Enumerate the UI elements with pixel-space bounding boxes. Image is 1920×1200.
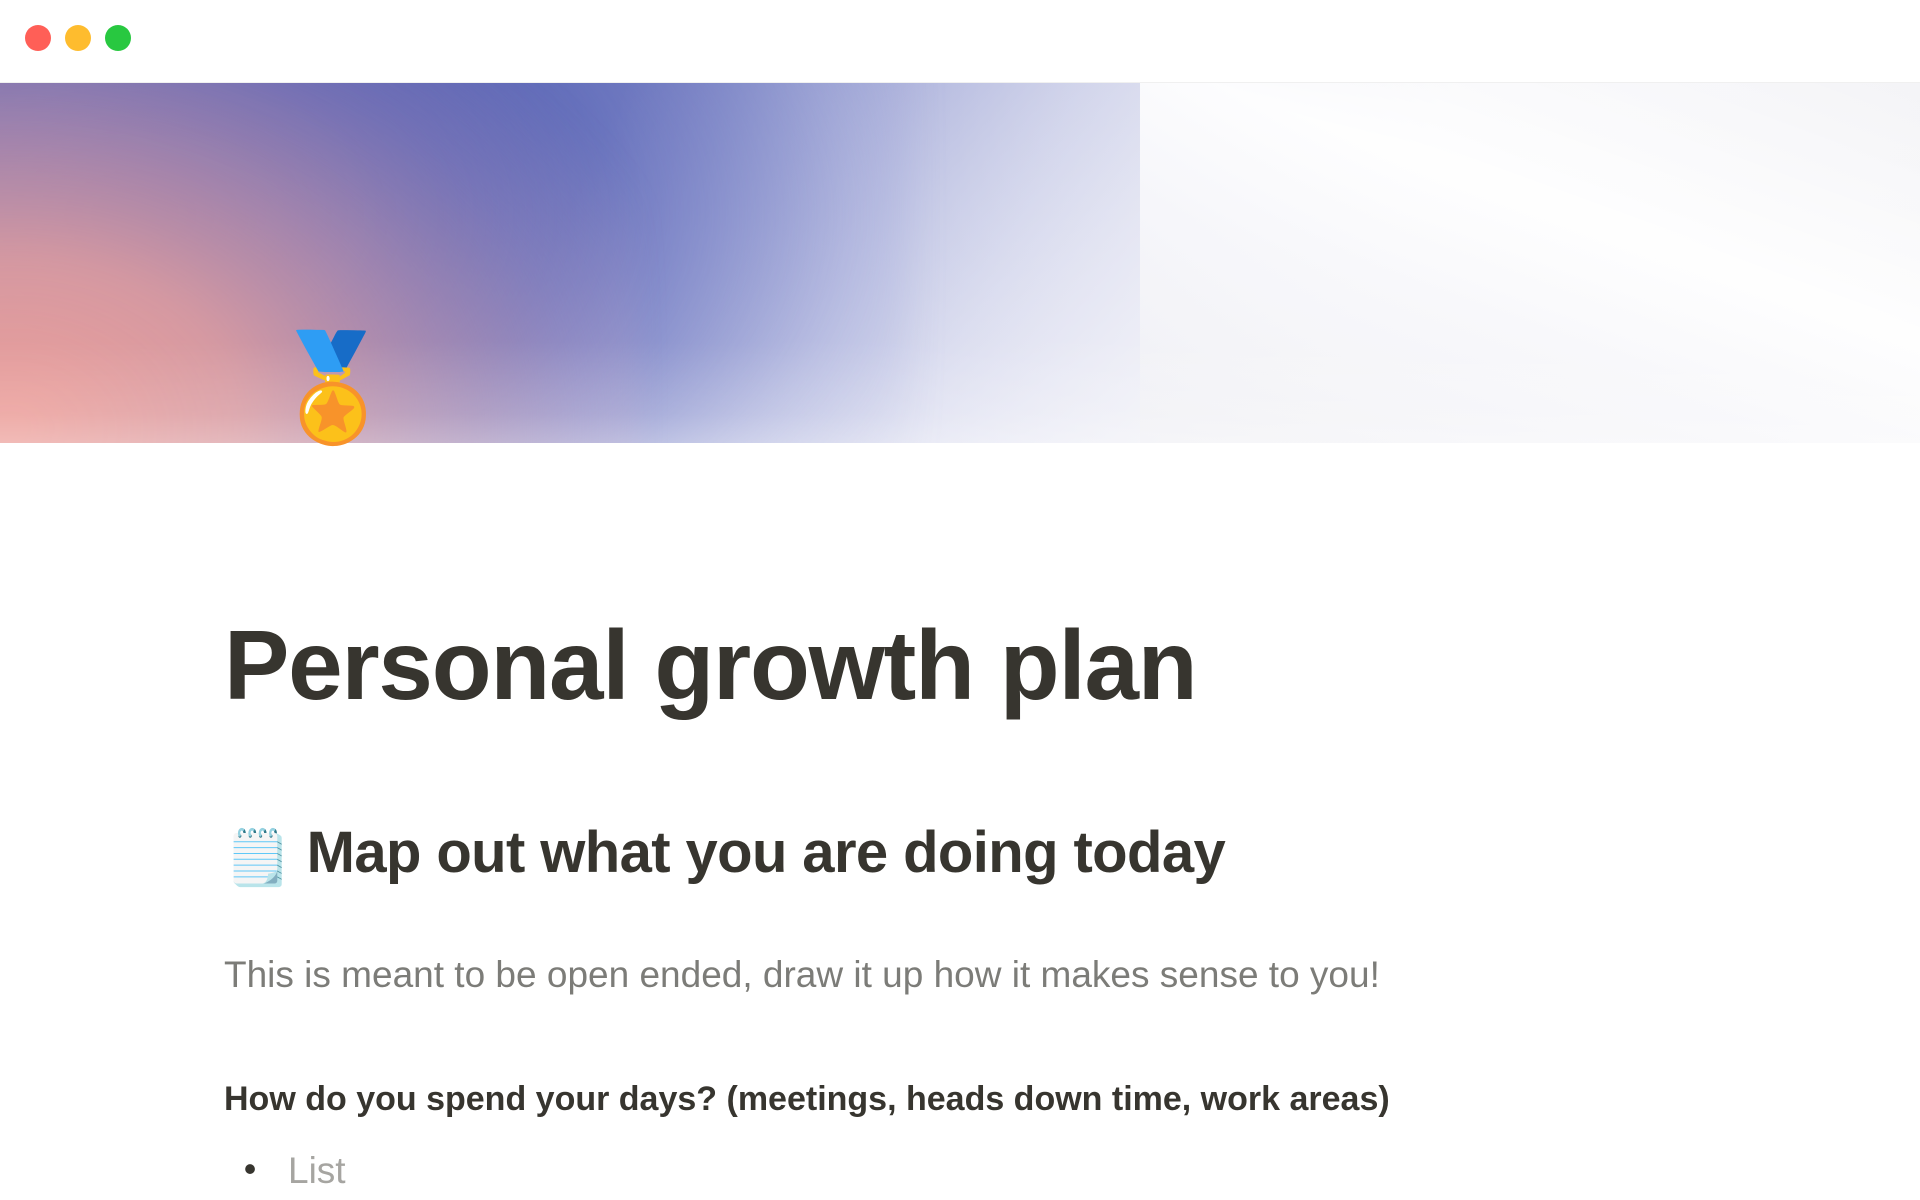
question-heading[interactable]: How do you spend your days? (meetings, h… <box>224 1075 1390 1124</box>
list-item-placeholder[interactable]: List <box>276 1147 346 1195</box>
bulleted-list: • List <box>224 1145 346 1197</box>
page-title[interactable]: Personal growth plan <box>224 615 1196 717</box>
document-body: Personal growth plan 🗒️ Map out what you… <box>0 443 1920 1200</box>
gold-medal-emoji[interactable]: 🏅 <box>268 336 398 440</box>
list-item[interactable]: • List <box>224 1145 346 1197</box>
close-button[interactable] <box>25 25 51 51</box>
window-titlebar <box>0 0 1920 83</box>
app-window: 🏅 Personal growth plan 🗒️ Map out what y… <box>0 0 1920 1200</box>
spiral-notepad-emoji: 🗒️ <box>224 831 291 885</box>
section-subtitle[interactable]: This is meant to be open ended, draw it … <box>224 948 1380 1002</box>
maximize-button[interactable] <box>105 25 131 51</box>
bullet-marker-icon: • <box>224 1151 276 1187</box>
traffic-light-controls <box>25 25 131 51</box>
minimize-button[interactable] <box>65 25 91 51</box>
section-heading-label: Map out what you are doing today <box>307 821 1226 886</box>
section-heading[interactable]: 🗒️ Map out what you are doing today <box>224 821 1225 886</box>
